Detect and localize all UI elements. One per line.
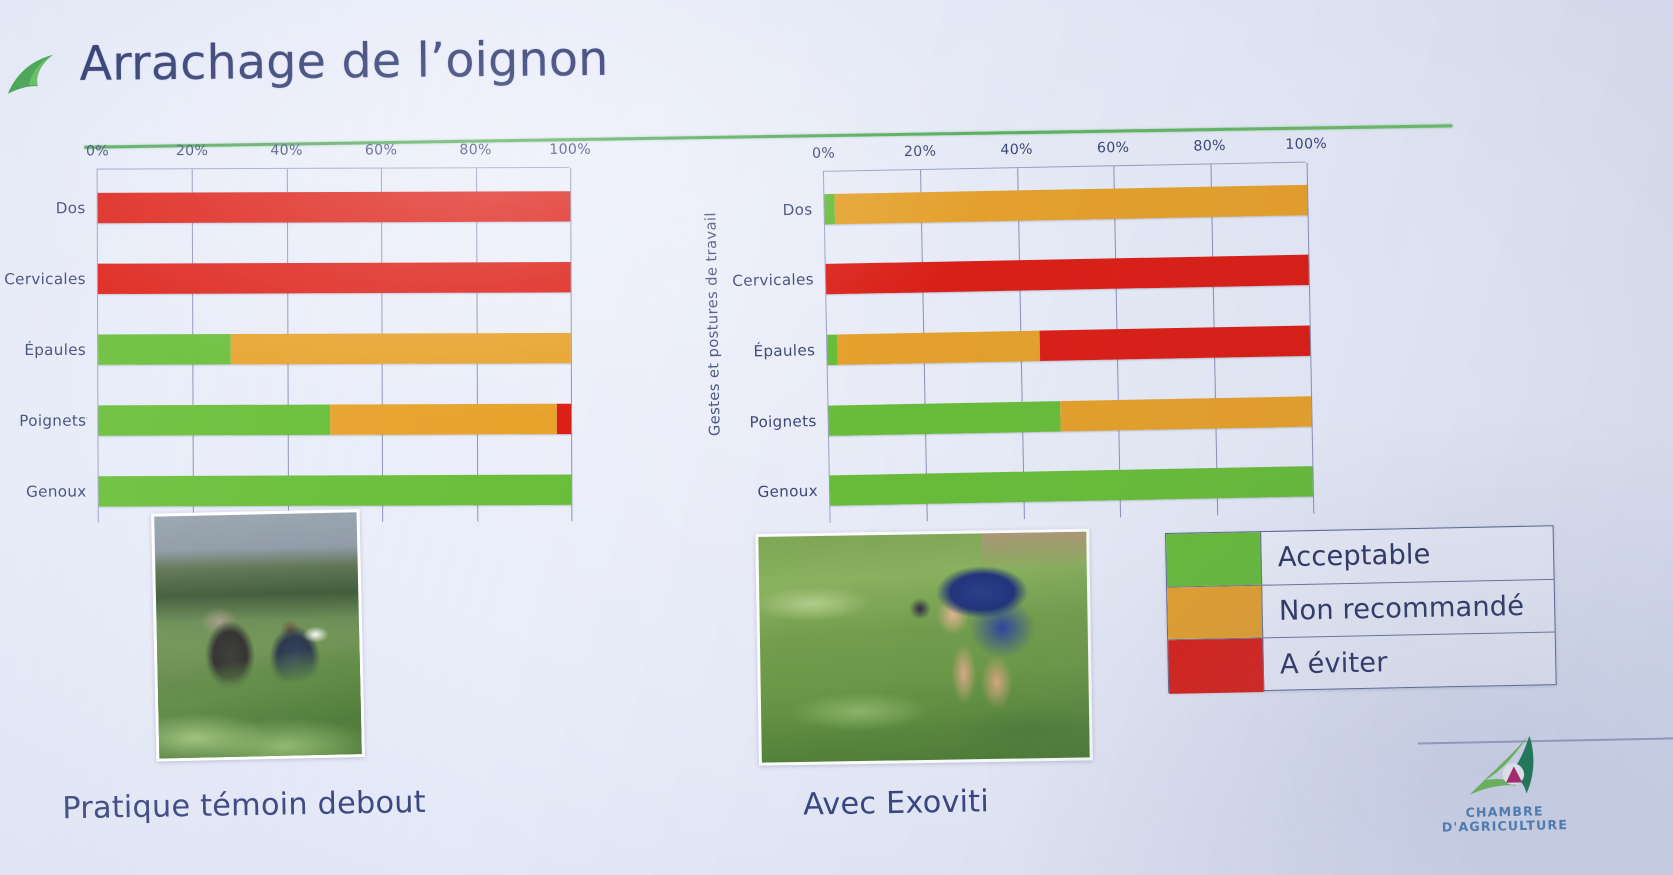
- x-axis-tick-label: 80%: [459, 142, 491, 158]
- bar-row: [98, 404, 571, 436]
- bar-segment-non-recommand-: [230, 333, 570, 365]
- legend-label: Non recommandé: [1262, 591, 1524, 628]
- x-axis-tick-label: 20%: [176, 143, 208, 159]
- bar-segment-a-viter: [1039, 325, 1310, 361]
- y-axis-category-label: Épaules: [753, 341, 815, 360]
- bar-row: [830, 466, 1313, 506]
- bar-row: [824, 185, 1307, 225]
- y-axis-category-label: Poignets: [749, 411, 816, 430]
- page-title: Arrachage de l’oignon: [79, 31, 609, 92]
- leaf-arrow-icon: [4, 53, 59, 100]
- x-axis-tick-label: 100%: [549, 142, 591, 158]
- x-axis-tick-label: 60%: [365, 142, 397, 158]
- bar-segment-non-recommand-: [330, 404, 557, 435]
- x-axis-tick-label: 80%: [1193, 138, 1226, 155]
- legend-swatch-acceptable: [1166, 532, 1262, 586]
- bar-segment-a-viter: [98, 262, 571, 294]
- bar-segment-non-recommand-: [1060, 396, 1312, 431]
- chart-pratique-temoin-debout: ostures de travail 0%20%40%60%80%100%Dos…: [0, 120, 631, 517]
- caption-avec-exoviti: Avec Exoviti: [803, 784, 990, 823]
- bar-segment-non-recommand-: [834, 185, 1308, 224]
- legend-label: A éviter: [1263, 647, 1387, 681]
- brand-line-2: D'AGRICULTURE: [1429, 818, 1581, 836]
- plot-area-right: 0%20%40%60%80%100%DosCervicalesÉpaulesPo…: [823, 162, 1312, 523]
- y-axis-category-label: Poignets: [19, 411, 86, 429]
- y-axis-category-label: Cervicales: [4, 270, 86, 289]
- x-axis-tick-label: 0%: [812, 145, 835, 162]
- y-axis-category-label: Cervicales: [732, 271, 814, 291]
- x-axis-tick-label: 0%: [86, 143, 109, 159]
- x-axis-tick-label: 100%: [1285, 136, 1327, 153]
- projected-slide-photo: Arrachage de l’oignon ostures de travail…: [0, 0, 1673, 875]
- x-axis-tick-label: 40%: [270, 143, 302, 159]
- legend-swatch-a-viter: [1168, 639, 1264, 694]
- photo-avec-exoviti: [755, 529, 1093, 766]
- bar-segment-acceptable: [827, 335, 837, 366]
- x-axis-tick-label: 20%: [904, 143, 937, 160]
- caption-pratique-temoin-debout: Pratique témoin debout: [62, 785, 426, 827]
- y-axis-category-label: Genoux: [757, 482, 818, 501]
- x-axis-tick-label: 40%: [1000, 142, 1033, 159]
- chart-avec-exoviti: Gestes et postures de travail 0%20%40%60…: [688, 118, 1363, 515]
- bar-segment-non-recommand-: [837, 331, 1040, 365]
- y-axis-category-label: Dos: [56, 199, 86, 217]
- chambre-agriculture-logo: CHAMBRE D'AGRICULTURE: [1427, 732, 1582, 872]
- bar-segment-acceptable: [98, 334, 230, 365]
- x-axis-tick-label: 60%: [1097, 140, 1130, 157]
- bar-segment-acceptable: [824, 194, 834, 225]
- bar-segment-a-viter: [98, 191, 571, 223]
- y-axis-category-label: Genoux: [26, 482, 87, 500]
- bar-segment-acceptable: [830, 466, 1313, 506]
- plot-area-left: 0%20%40%60%80%100%DosCervicalesÉpaulesPo…: [97, 167, 571, 523]
- bar-segment-a-viter: [826, 255, 1309, 295]
- bar-segment-a-viter: [557, 404, 571, 434]
- bar-segment-acceptable: [828, 401, 1060, 436]
- y-axis-category-label: Dos: [783, 200, 813, 219]
- bar-row: [828, 396, 1311, 436]
- legend-swatch-non-recommand-: [1167, 585, 1263, 639]
- bar-row: [98, 262, 571, 294]
- bar-segment-acceptable: [98, 405, 330, 436]
- bar-row: [826, 255, 1309, 295]
- photo-pratique-temoin-debout: [151, 509, 365, 761]
- legend-row: A éviter: [1168, 633, 1556, 694]
- bar-row: [827, 325, 1310, 365]
- slide-header: Arrachage de l’oignon: [0, 17, 1515, 113]
- bar-row: [98, 191, 571, 223]
- bar-row: [99, 475, 572, 507]
- y-axis-category-label: Épaules: [24, 341, 86, 359]
- legend-row: Non recommandé: [1167, 579, 1555, 640]
- legend: AcceptableNon recommandéA éviter: [1165, 525, 1557, 693]
- legend-label: Acceptable: [1261, 539, 1430, 574]
- bar-row: [98, 333, 571, 365]
- legend-row: Acceptable: [1166, 526, 1554, 587]
- chambre-agriculture-logo-icon: [1465, 732, 1543, 800]
- bar-segment-acceptable: [99, 475, 572, 507]
- y-axis-title-right: Gestes et postures de travail: [703, 213, 723, 436]
